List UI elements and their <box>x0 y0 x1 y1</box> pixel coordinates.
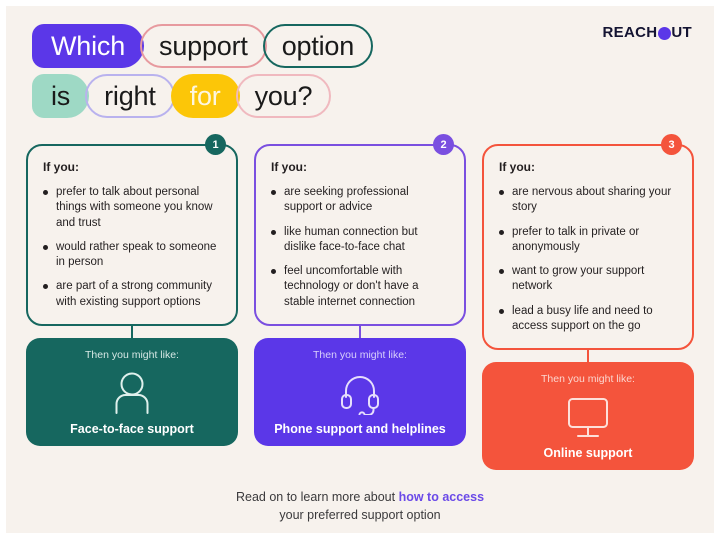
step-badge-2: 2 <box>433 134 454 155</box>
infographic-canvas: Which support option is right for you? R… <box>6 6 714 533</box>
title-pill-option: option <box>263 24 373 68</box>
criteria-card-3: 3 If you: are nervous about sharing your… <box>482 144 694 350</box>
list-item: lead a busy life and need to access supp… <box>499 304 678 335</box>
criteria-list-1: prefer to talk about personal things wit… <box>43 185 222 310</box>
footer-line-1: Read on to learn more about how to acces… <box>6 488 714 506</box>
footer-note: Read on to learn more about how to acces… <box>6 488 714 524</box>
criteria-card-1: 1 If you: prefer to talk about personal … <box>26 144 238 326</box>
step-badge-3: 3 <box>661 134 682 155</box>
title-pill-support: support <box>140 24 267 68</box>
if-you-label-2: If you: <box>271 160 450 174</box>
result-card-2[interactable]: Then you might like: Phone support and h… <box>254 338 466 446</box>
title-pill-for: for <box>171 74 240 118</box>
criteria-list-3: are nervous about sharing your story pre… <box>499 185 678 334</box>
then-you-might-like-label-2: Then you might like: <box>313 349 407 361</box>
criteria-card-2: 2 If you: are seeking professional suppo… <box>254 144 466 326</box>
logo-text-reach: REACH <box>603 24 658 41</box>
then-you-might-like-label-3: Then you might like: <box>541 373 635 385</box>
how-to-access-link[interactable]: how to access <box>399 490 484 504</box>
title-line-1: Which support option <box>32 24 373 68</box>
title-pill-is: is <box>32 74 89 118</box>
list-item: are seeking professional support or advi… <box>271 185 450 216</box>
title-pill-you: you? <box>236 74 332 118</box>
list-item: are part of a strong community with exis… <box>43 279 222 310</box>
list-item: are nervous about sharing your story <box>499 185 678 216</box>
title-pill-which: Which <box>32 24 144 68</box>
result-title-3: Online support <box>544 446 633 461</box>
list-item: prefer to talk about personal things wit… <box>43 185 222 231</box>
person-icon <box>109 365 155 422</box>
monitor-icon <box>564 389 612 446</box>
page-title: Which support option is right for you? <box>32 24 373 118</box>
list-item: would rather speak to someone in person <box>43 240 222 271</box>
title-pill-right: right <box>85 74 175 118</box>
option-column-3: 3 If you: are nervous about sharing your… <box>482 144 694 470</box>
connector-line-3 <box>587 350 589 362</box>
options-columns: 1 If you: prefer to talk about personal … <box>26 144 694 470</box>
connector-line-2 <box>359 326 361 338</box>
option-column-1: 1 If you: prefer to talk about personal … <box>26 144 238 470</box>
list-item: want to grow your support network <box>499 264 678 295</box>
result-card-3[interactable]: Then you might like: Online support <box>482 362 694 470</box>
then-you-might-like-label-1: Then you might like: <box>85 349 179 361</box>
result-title-2: Phone support and helplines <box>274 422 446 437</box>
result-card-1[interactable]: Then you might like: Face-to-face suppor… <box>26 338 238 446</box>
list-item: feel uncomfortable with technology or do… <box>271 264 450 310</box>
list-item: prefer to talk in private or anonymously <box>499 225 678 256</box>
list-item: like human connection but dislike face-t… <box>271 225 450 256</box>
criteria-list-2: are seeking professional support or advi… <box>271 185 450 310</box>
logo-o-circle-icon <box>658 27 671 40</box>
if-you-label-3: If you: <box>499 160 678 174</box>
headset-icon <box>336 365 384 422</box>
if-you-label-1: If you: <box>43 160 222 174</box>
option-column-2: 2 If you: are seeking professional suppo… <box>254 144 466 470</box>
footer-text-before-link: Read on to learn more about <box>236 490 399 504</box>
infographic-page: Which support option is right for you? R… <box>0 0 720 539</box>
logo-text-ut: UT <box>671 24 692 41</box>
reachout-logo: REACH UT <box>603 24 692 41</box>
step-badge-1: 1 <box>205 134 226 155</box>
connector-line-1 <box>131 326 133 338</box>
title-line-2: is right for you? <box>32 74 373 118</box>
footer-line-2: your preferred support option <box>6 506 714 524</box>
result-title-1: Face-to-face support <box>70 422 194 437</box>
